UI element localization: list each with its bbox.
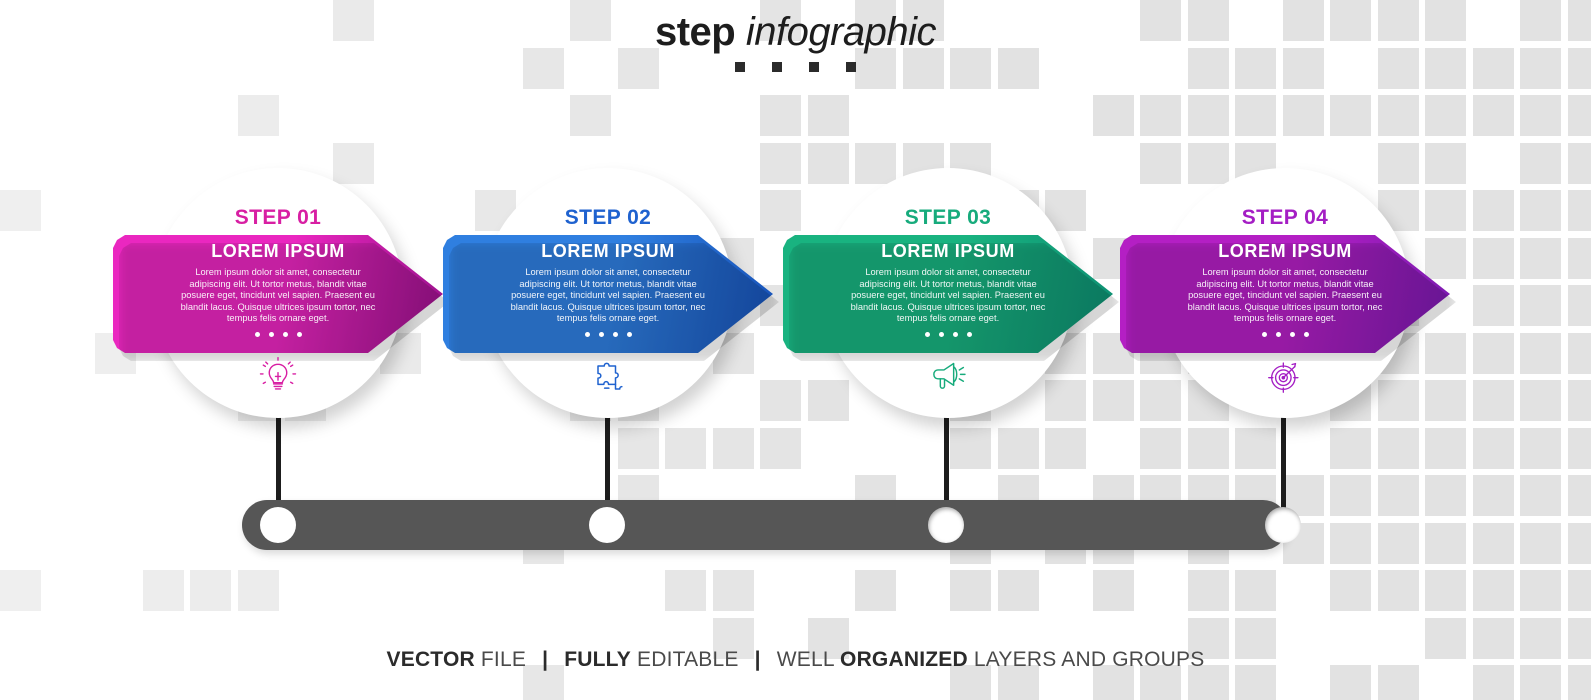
- footer-fully-bold: FULLY: [564, 648, 631, 671]
- mosaic-square: [1568, 333, 1591, 374]
- mosaic-square: [1425, 95, 1466, 136]
- timeline-node-2[interactable]: [589, 507, 625, 543]
- mosaic-square: [238, 95, 279, 136]
- step-label-4: STEP 04: [1160, 206, 1410, 230]
- step-card-4[interactable]: STEP 04 LOREM IPSUM Lorem ipsum dolor si…: [1160, 168, 1410, 418]
- step-label-2: STEP 02: [483, 206, 733, 230]
- mosaic-square: [1520, 190, 1561, 231]
- mosaic-square: [1425, 380, 1466, 421]
- footer-vector-bold: VECTOR: [387, 648, 475, 671]
- mosaic-square: [1473, 285, 1514, 326]
- mosaic-square: [1520, 523, 1561, 564]
- step-dot: [1290, 332, 1295, 337]
- timeline-node-3[interactable]: [928, 507, 964, 543]
- step-dots-2: [483, 332, 733, 337]
- mosaic-square: [1568, 95, 1591, 136]
- step-dot: [1276, 332, 1281, 337]
- mosaic-square: [1188, 428, 1229, 469]
- puzzle-piece-icon: [483, 356, 733, 401]
- mosaic-square: [1330, 475, 1371, 516]
- mosaic-square: [1425, 428, 1466, 469]
- mosaic-square: [760, 143, 801, 184]
- mosaic-square: [1520, 95, 1561, 136]
- step-banner-content: LOREM IPSUM Lorem ipsum dolor sit amet, …: [483, 234, 733, 354]
- mosaic-square: [1520, 380, 1561, 421]
- mosaic-square: [1330, 570, 1371, 611]
- mosaic-square: [1568, 475, 1591, 516]
- title-dot: [735, 62, 745, 72]
- step-dot: [269, 332, 274, 337]
- footer-caption: VECTOR FILE | FULLY EDITABLE | WELL ORGA…: [0, 648, 1591, 672]
- mosaic-square: [238, 570, 279, 611]
- step-title-2: LOREM IPSUM: [483, 234, 733, 262]
- mosaic-square: [1093, 570, 1134, 611]
- step-title-1: LOREM IPSUM: [153, 234, 403, 262]
- mosaic-square: [1473, 95, 1514, 136]
- lightbulb-icon: [153, 356, 403, 401]
- page-title-strong: step: [655, 10, 735, 54]
- mosaic-square: [1378, 570, 1419, 611]
- mosaic-square: [1520, 428, 1561, 469]
- mosaic-square: [1425, 143, 1466, 184]
- page-title-block: step infographic: [0, 8, 1591, 72]
- step-body-3: Lorem ipsum dolor sit amet, consectetur …: [823, 262, 1073, 325]
- mosaic-square: [1568, 238, 1591, 279]
- mosaic-square: [950, 428, 991, 469]
- mosaic-square: [1473, 333, 1514, 374]
- mosaic-square: [1568, 143, 1591, 184]
- footer-separator-1: |: [532, 648, 558, 671]
- title-dot: [846, 62, 856, 72]
- mosaic-square: [1473, 190, 1514, 231]
- step-body-4: Lorem ipsum dolor sit amet, consectetur …: [1160, 262, 1410, 325]
- page-title-space: [735, 10, 746, 54]
- footer-file-light: FILE: [481, 648, 526, 671]
- step-dot: [1262, 332, 1267, 337]
- connector-line-4: [1281, 404, 1286, 520]
- mosaic-square: [1140, 428, 1181, 469]
- mosaic-square: [1378, 475, 1419, 516]
- page-title: step infographic: [0, 8, 1591, 56]
- timeline-bar: [242, 500, 1288, 550]
- mosaic-square: [1093, 95, 1134, 136]
- step-banner-2: LOREM IPSUM Lorem ipsum dolor sit amet, …: [443, 234, 773, 354]
- mosaic-square: [190, 570, 231, 611]
- mosaic-square: [1330, 523, 1371, 564]
- mosaic-square: [1425, 475, 1466, 516]
- mosaic-square: [1520, 475, 1561, 516]
- megaphone-icon: [823, 356, 1073, 401]
- mosaic-square: [665, 570, 706, 611]
- mosaic-square: [1330, 428, 1371, 469]
- mosaic-square: [1188, 570, 1229, 611]
- step-banner-3: LOREM IPSUM Lorem ipsum dolor sit amet, …: [783, 234, 1113, 354]
- mosaic-square: [1045, 428, 1086, 469]
- step-dot: [283, 332, 288, 337]
- step-card-3[interactable]: STEP 03 LOREM IPSUM Lorem ipsum dolor si…: [823, 168, 1073, 418]
- mosaic-square: [1140, 95, 1181, 136]
- footer-editable-light: EDITABLE: [637, 648, 739, 671]
- mosaic-square: [1473, 238, 1514, 279]
- step-body-1: Lorem ipsum dolor sit amet, consectetur …: [153, 262, 403, 325]
- step-dot: [599, 332, 604, 337]
- mosaic-square: [1425, 570, 1466, 611]
- title-dots-decoration: [0, 62, 1591, 72]
- mosaic-square: [1520, 143, 1561, 184]
- mosaic-square: [950, 570, 991, 611]
- mosaic-square: [1188, 95, 1229, 136]
- mosaic-square: [1093, 380, 1134, 421]
- mosaic-square: [998, 428, 1039, 469]
- step-body-2: Lorem ipsum dolor sit amet, consectetur …: [483, 262, 733, 325]
- step-dot: [939, 332, 944, 337]
- footer-separator-2: |: [745, 648, 771, 671]
- step-dot: [613, 332, 618, 337]
- footer-well-light: WELL: [777, 648, 834, 671]
- step-title-4: LOREM IPSUM: [1160, 234, 1410, 262]
- mosaic-square: [1283, 95, 1324, 136]
- step-dots-1: [153, 332, 403, 337]
- mosaic-square: [998, 570, 1039, 611]
- mosaic-square: [1520, 238, 1561, 279]
- mosaic-square: [760, 428, 801, 469]
- title-dot: [772, 62, 782, 72]
- mosaic-square: [1568, 285, 1591, 326]
- step-banner-content: LOREM IPSUM Lorem ipsum dolor sit amet, …: [153, 234, 403, 354]
- mosaic-square: [0, 190, 41, 231]
- footer-layers-light: LAYERS AND GROUPS: [974, 648, 1205, 671]
- step-dot: [925, 332, 930, 337]
- mosaic-square: [1473, 523, 1514, 564]
- mosaic-square: [1568, 190, 1591, 231]
- mosaic-square: [1473, 570, 1514, 611]
- mosaic-square: [1378, 428, 1419, 469]
- step-card-1[interactable]: STEP 01 LOREM IPSUM Lorem ipsum dolor si…: [153, 168, 403, 418]
- step-banner-content: LOREM IPSUM Lorem ipsum dolor sit amet, …: [823, 234, 1073, 354]
- mosaic-square: [713, 570, 754, 611]
- mosaic-square: [1568, 570, 1591, 611]
- mosaic-square: [1520, 333, 1561, 374]
- page-title-emphasis: infographic: [746, 10, 936, 54]
- mosaic-square: [1235, 428, 1276, 469]
- mosaic-square: [760, 95, 801, 136]
- mosaic-square: [1568, 380, 1591, 421]
- infographic-canvas: step infographic STEP 01 LOREM IPSUM Lor…: [0, 0, 1591, 700]
- mosaic-square: [760, 190, 801, 231]
- step-dots-3: [823, 332, 1073, 337]
- mosaic-square: [1520, 285, 1561, 326]
- step-dot: [255, 332, 260, 337]
- step-label-3: STEP 03: [823, 206, 1073, 230]
- mosaic-square: [713, 428, 754, 469]
- step-dot: [297, 332, 302, 337]
- step-dots-4: [1160, 332, 1410, 337]
- mosaic-square: [1473, 428, 1514, 469]
- step-dot: [967, 332, 972, 337]
- mosaic-square: [1568, 428, 1591, 469]
- mosaic-square: [1235, 95, 1276, 136]
- mosaic-square: [1378, 523, 1419, 564]
- step-card-2[interactable]: STEP 02 LOREM IPSUM Lorem ipsum dolor si…: [483, 168, 733, 418]
- step-banner-content: LOREM IPSUM Lorem ipsum dolor sit amet, …: [1160, 234, 1410, 354]
- mosaic-square: [1378, 95, 1419, 136]
- mosaic-square: [1235, 570, 1276, 611]
- mosaic-square: [1425, 523, 1466, 564]
- timeline-node-1[interactable]: [260, 507, 296, 543]
- mosaic-square: [760, 380, 801, 421]
- title-dot: [809, 62, 819, 72]
- mosaic-square: [618, 428, 659, 469]
- mosaic-square: [1425, 190, 1466, 231]
- mosaic-square: [143, 570, 184, 611]
- mosaic-square: [1568, 523, 1591, 564]
- step-banner-4: LOREM IPSUM Lorem ipsum dolor sit amet, …: [1120, 234, 1450, 354]
- step-banner-1: LOREM IPSUM Lorem ipsum dolor sit amet, …: [113, 234, 443, 354]
- step-dot: [585, 332, 590, 337]
- mosaic-square: [1330, 95, 1371, 136]
- timeline-node-4[interactable]: [1265, 507, 1301, 543]
- mosaic-square: [1520, 570, 1561, 611]
- step-label-1: STEP 01: [153, 206, 403, 230]
- footer-organized-bold: ORGANIZED: [840, 648, 968, 671]
- target-icon: [1160, 356, 1410, 401]
- mosaic-square: [855, 570, 896, 611]
- mosaic-square: [665, 428, 706, 469]
- mosaic-square: [570, 95, 611, 136]
- mosaic-square: [0, 570, 41, 611]
- step-dot: [1304, 332, 1309, 337]
- step-dot: [953, 332, 958, 337]
- mosaic-square: [1473, 380, 1514, 421]
- mosaic-square: [1473, 475, 1514, 516]
- step-title-3: LOREM IPSUM: [823, 234, 1073, 262]
- step-dot: [627, 332, 632, 337]
- mosaic-square: [808, 95, 849, 136]
